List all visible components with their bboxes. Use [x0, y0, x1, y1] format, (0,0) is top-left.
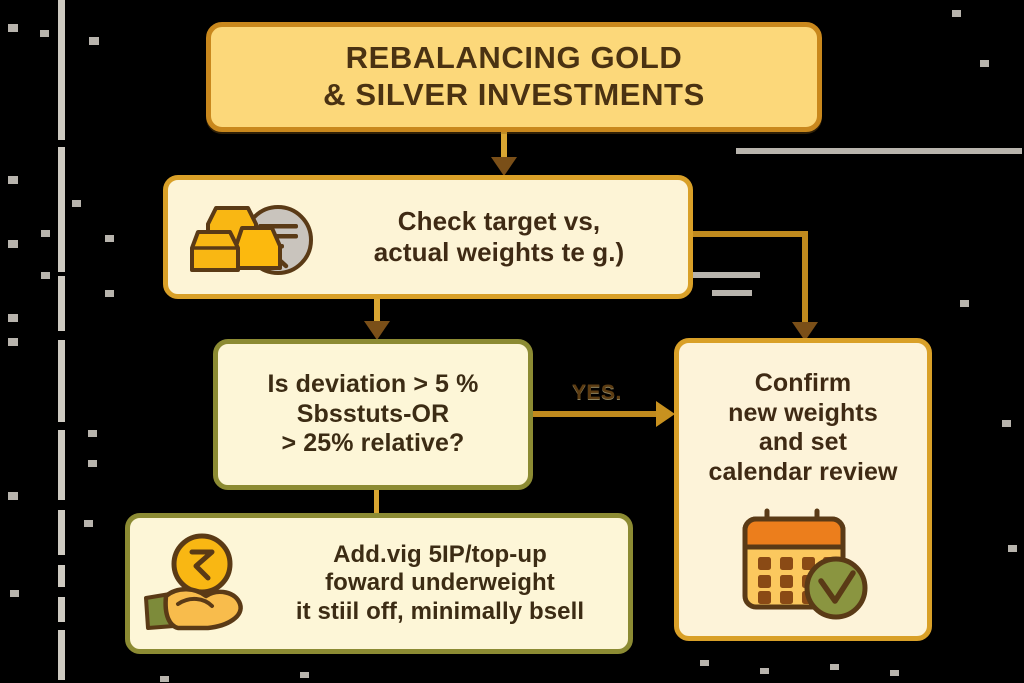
background-speck [10, 590, 19, 597]
edge-label-yes: YES. [572, 381, 622, 405]
title-line-1: REBALANCING GOLD [323, 40, 705, 77]
confirm-line-3: and set [759, 428, 847, 458]
background-strip [58, 430, 65, 500]
action-line-3: it stiil off, minimally bsell [256, 598, 624, 626]
decision-line-3: > 25% relative? [268, 429, 479, 459]
background-speck [760, 668, 769, 674]
background-speck [105, 235, 114, 242]
action-line-1: Add.vig 5IP/top-up [256, 541, 624, 569]
background-speck [980, 60, 989, 67]
check-target-box: Check target vs, actual weights te g.) [163, 175, 693, 299]
background-speck [712, 290, 752, 296]
background-speck [1002, 420, 1011, 427]
background-speck [160, 676, 169, 682]
background-strip [58, 147, 65, 272]
background-speck [300, 672, 309, 678]
background-speck [960, 300, 969, 307]
action-line-2: foward underweight [256, 569, 624, 597]
flowchart-canvas: YES. REBALANCING GOLD & SILVER INVESTMEN… [0, 0, 1024, 683]
decision-line-2: Sbsstuts-OR [268, 400, 479, 430]
background-speck [700, 660, 709, 666]
background-speck [88, 430, 97, 437]
decision-box: Is deviation > 5 % Sbsstuts-OR > 25% rel… [213, 339, 533, 490]
confirm-line-1: Confirm [755, 369, 852, 399]
gold-bars-and-silver-coin-icon [186, 188, 316, 287]
background-speck [8, 314, 18, 322]
title-box: REBALANCING GOLD & SILVER INVESTMENTS [206, 22, 822, 132]
background-strip [58, 276, 65, 331]
connector-decision-to-confirm [531, 411, 669, 417]
background-speck [690, 272, 760, 278]
background-strip [58, 392, 65, 422]
confirm-line-4: calendar review [708, 458, 897, 488]
arrowhead-title-to-check [491, 157, 517, 176]
background-speck [8, 240, 18, 248]
confirm-line-2: new weights [728, 399, 878, 429]
background-speck [84, 520, 93, 527]
background-strip [58, 597, 65, 622]
background-strip [58, 0, 65, 140]
background-speck [89, 37, 99, 45]
action-box: Add.vig 5IP/top-up foward underweight it… [125, 513, 633, 654]
background-speck [8, 338, 18, 346]
background-speck [952, 10, 961, 17]
arrowhead-check-to-decision [364, 321, 390, 340]
background-speck [8, 24, 18, 32]
background-speck [830, 664, 839, 670]
background-speck [88, 460, 97, 467]
background-speck [8, 176, 18, 184]
background-speck [890, 670, 899, 676]
background-strip [58, 565, 65, 587]
title-line-2: & SILVER INVESTMENTS [323, 77, 705, 114]
background-speck [8, 492, 18, 500]
background-speck [105, 290, 114, 297]
background-strip [58, 510, 65, 555]
calendar-with-check-icon [733, 505, 873, 631]
connector-check-to-confirm-horizontal [690, 231, 808, 237]
check-line-1: Check target vs, [316, 206, 682, 237]
background-strip [58, 630, 65, 680]
background-speck [41, 272, 50, 279]
hand-holding-coin-icon [144, 526, 256, 641]
background-speck [1008, 545, 1017, 552]
background-speck [736, 148, 1022, 154]
confirm-box: Confirm new weights and set calendar rev… [674, 338, 932, 641]
background-speck [40, 30, 49, 37]
background-speck [41, 230, 50, 237]
connector-check-to-confirm-vertical [802, 231, 808, 331]
arrowhead-decision-to-confirm [656, 401, 675, 427]
check-line-2: actual weights te g.) [316, 237, 682, 268]
connector-decision-to-action [374, 489, 379, 516]
decision-line-1: Is deviation > 5 % [268, 370, 479, 400]
background-speck [72, 200, 81, 207]
